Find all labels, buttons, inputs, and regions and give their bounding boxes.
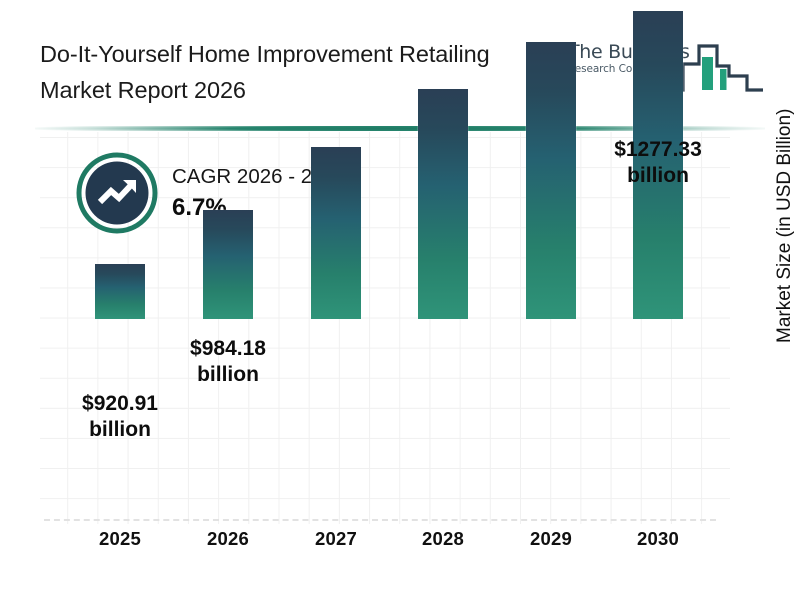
value-label-2025-unit: billion bbox=[35, 417, 205, 443]
chart-screenshot: Do-It-Yourself Home Improvement Retailin… bbox=[0, 0, 800, 600]
x-label-2028: 2028 bbox=[383, 528, 503, 550]
bar-2029 bbox=[526, 42, 576, 319]
value-label-2025-amount: $920.91 bbox=[35, 391, 205, 417]
x-axis-labels: 2025 2026 2027 2028 2029 2030 bbox=[0, 528, 800, 568]
value-label-2030-amount: $1277.33 bbox=[573, 137, 743, 163]
x-label-2030: 2030 bbox=[598, 528, 718, 550]
bar-chart-logo-mark-icon bbox=[673, 36, 765, 103]
bar-2027 bbox=[311, 147, 361, 319]
value-label-2026-amount: $984.18 bbox=[143, 336, 313, 362]
page-title: Do-It-Yourself Home Improvement Retailin… bbox=[40, 36, 560, 108]
value-label-2026: $984.18 billion bbox=[143, 336, 313, 388]
x-label-2029: 2029 bbox=[491, 528, 611, 550]
bar-2028 bbox=[418, 89, 468, 319]
x-label-2026: 2026 bbox=[168, 528, 288, 550]
value-label-2030-unit: billion bbox=[573, 163, 743, 189]
value-label-2030: $1277.33 billion bbox=[573, 137, 743, 189]
y-axis-title: Market Size (in USD Billion) bbox=[774, 123, 800, 343]
x-label-2025: 2025 bbox=[60, 528, 180, 550]
bar-2025 bbox=[95, 264, 145, 319]
x-label-2027: 2027 bbox=[276, 528, 396, 550]
chart-area: CAGR 2026 - 2030 6.7% $920.91 billion $9… bbox=[0, 128, 800, 600]
bar-2026 bbox=[203, 210, 253, 319]
value-label-2026-unit: billion bbox=[143, 362, 313, 388]
value-label-2025: $920.91 billion bbox=[35, 391, 205, 443]
